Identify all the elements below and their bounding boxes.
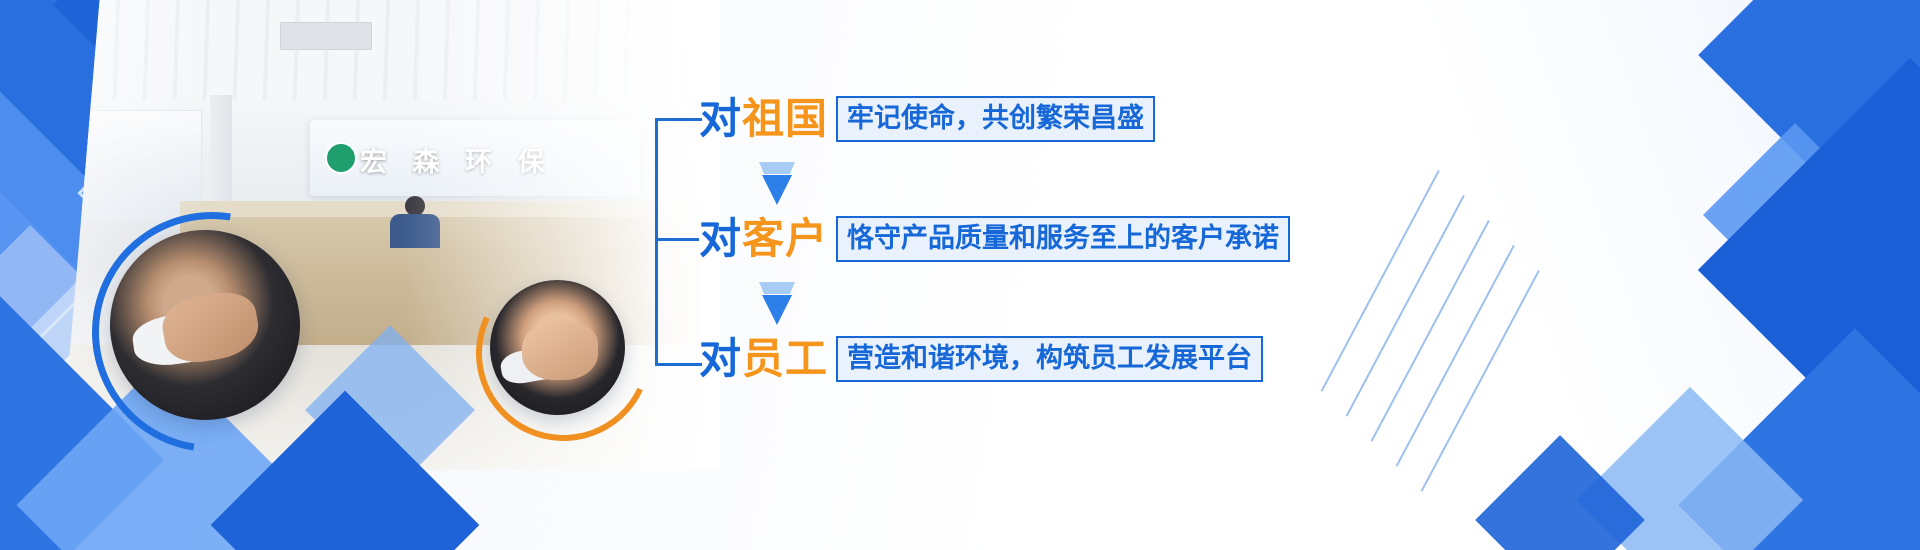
value-keyword: 员工	[742, 335, 828, 382]
value-statement-employee: 营造和谐环境，构筑员工发展平台	[836, 336, 1263, 381]
value-row-customer: 对客户 恪守产品质量和服务至上的客户承诺	[699, 212, 1290, 266]
value-statement-country: 牢记使命，共创繁荣昌盛	[836, 96, 1155, 141]
receptionist-body	[390, 214, 440, 248]
value-heading-employee: 对员工	[699, 338, 828, 380]
value-statement-customer: 恪守产品质量和服务至上的客户承诺	[836, 216, 1290, 261]
value-row-employee: 对员工 营造和谐环境，构筑员工发展平台	[699, 332, 1263, 386]
value-heading-customer: 对客户	[699, 218, 828, 260]
bracket-middle-tick	[655, 238, 699, 241]
arrow-tip	[762, 175, 792, 205]
value-row-country: 对祖国 牢记使命，共创繁荣昌盛	[699, 92, 1155, 146]
value-keyword: 客户	[742, 215, 828, 262]
value-prefix: 对	[699, 215, 742, 262]
value-heading-country: 对祖国	[699, 98, 828, 140]
arrow-cap	[759, 162, 795, 174]
ceiling-vent	[280, 22, 372, 50]
down-arrow-icon	[759, 162, 795, 205]
globe-leaf-icon	[325, 142, 357, 174]
receptionist-head	[405, 196, 425, 216]
arrow-tip	[762, 295, 792, 325]
value-keyword: 祖国	[742, 95, 828, 142]
brand-sign-text: 宏 森 环 保	[360, 140, 554, 179]
arrow-cap	[759, 282, 795, 294]
bracket-connector	[655, 118, 702, 366]
values-list: 对祖国 牢记使命，共创繁荣昌盛 对客户 恪守产品质量和服务至上的客户承诺 对员工…	[655, 70, 1355, 400]
value-prefix: 对	[699, 95, 742, 142]
company-values-banner: 宏 森 环 保 HONGSEN ENVIRONMENTAL 对祖国	[0, 0, 1920, 550]
brand-sign-subtext: HONGSEN ENVIRONMENTAL	[362, 176, 536, 185]
ceiling	[60, 0, 720, 110]
down-arrow-icon	[759, 282, 795, 325]
value-prefix: 对	[699, 335, 742, 382]
